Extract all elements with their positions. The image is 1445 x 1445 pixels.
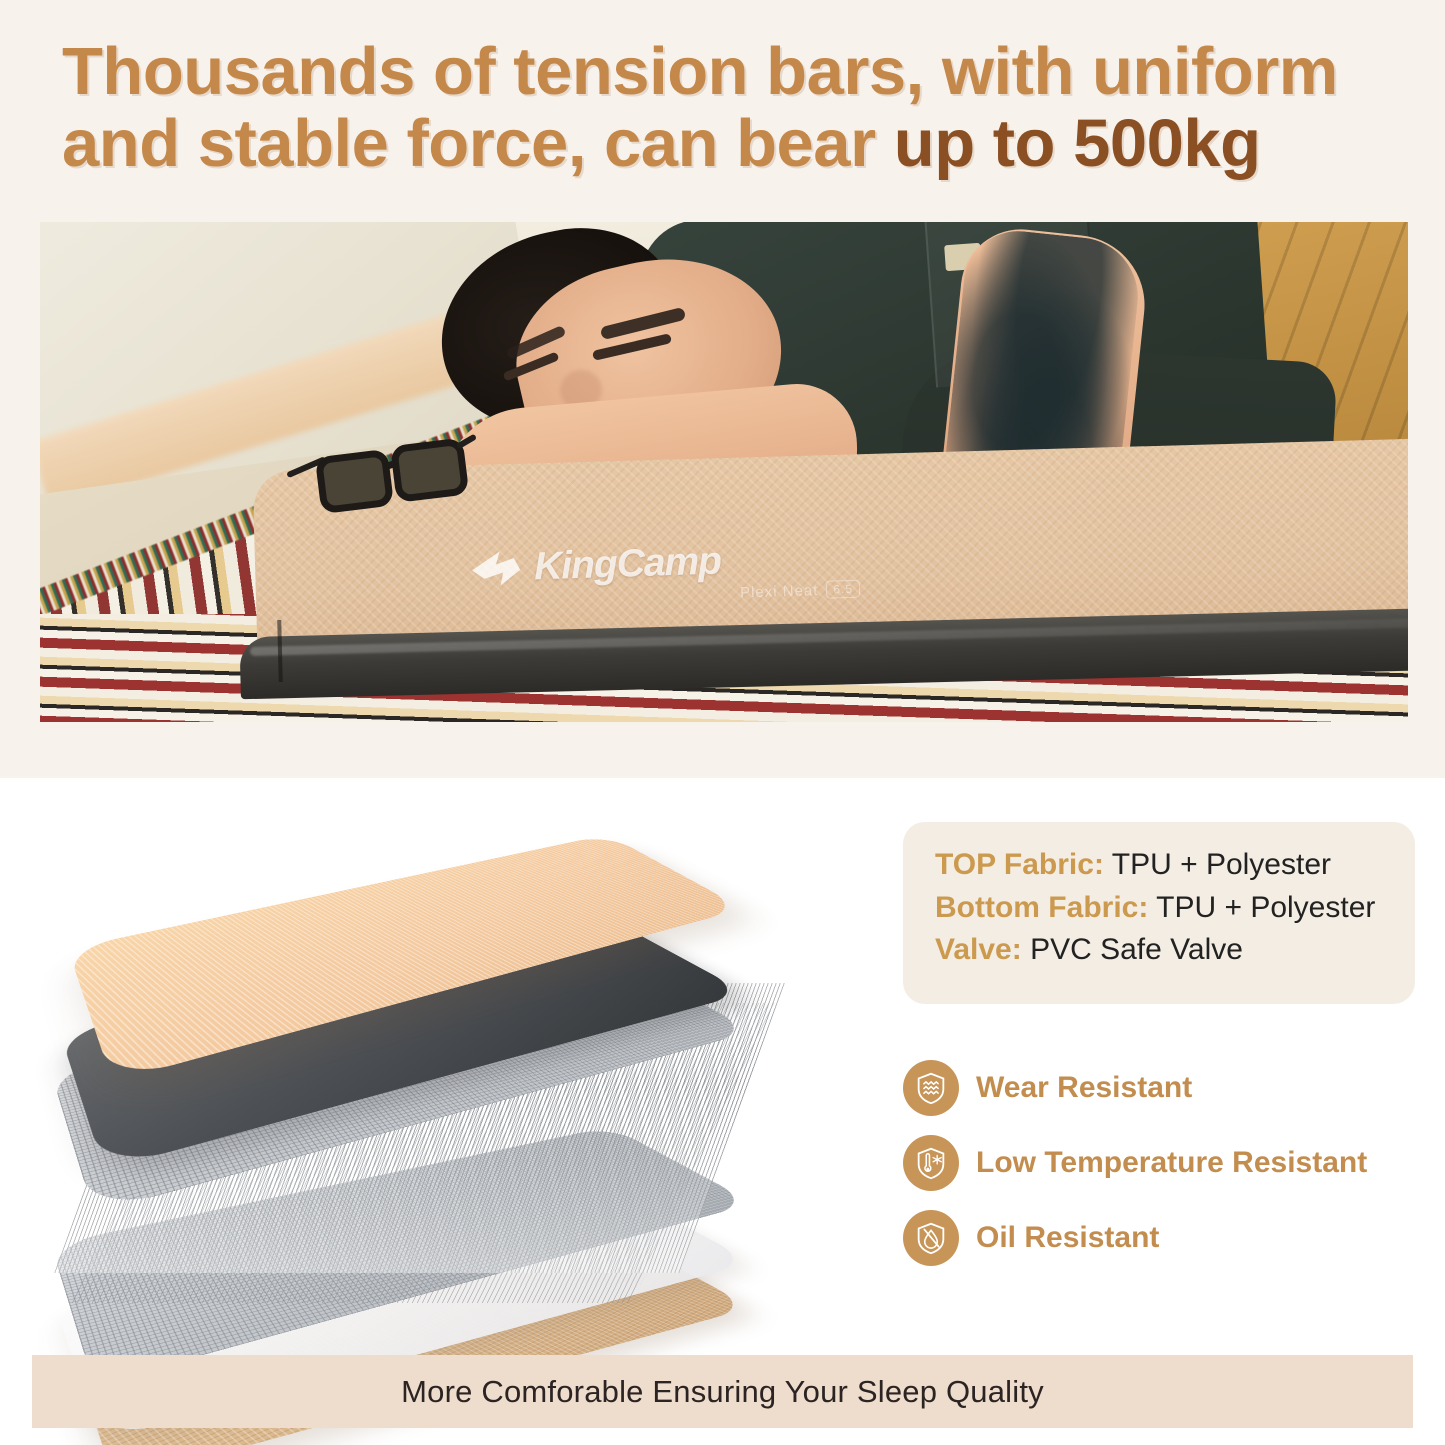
feature-item-wear-resistant: Wear Resistant [903, 1050, 1423, 1125]
feature-label-wear-resistant: Wear Resistant [976, 1071, 1192, 1105]
hero-section: Thousands of tension bars, with uniform … [0, 0, 1445, 778]
kingcamp-chevron-icon [469, 548, 522, 590]
feature-item-oil-resistant: Oil Resistant [903, 1200, 1423, 1275]
specs-panel: TOP Fabric: TPU + Polyester Bottom Fabri… [903, 822, 1415, 1004]
spec-label-top-fabric: TOP Fabric: [935, 848, 1104, 881]
mat-sub-badge: 6.5 [826, 580, 860, 599]
headline: Thousands of tension bars, with uniform … [62, 36, 1392, 179]
spec-value-bottom-fabric: TPU + Polyester [1156, 891, 1375, 924]
mat-sub-label-text: Plexi Neat [740, 581, 819, 600]
feature-item-low-temperature-resistant: Low Temperature Resistant [903, 1125, 1423, 1200]
shield-oil-drop-slash-icon [903, 1210, 959, 1266]
shield-thermometer-snowflake-icon [903, 1135, 959, 1191]
bottom-banner-text: More Comforable Ensuring Your Sleep Qual… [401, 1374, 1044, 1410]
mat-brand-name: KingCamp [533, 540, 721, 590]
shield-waves-icon [903, 1060, 959, 1116]
feature-list: Wear Resistant Low Temperat [903, 1050, 1423, 1275]
spec-row: Valve: PVC Safe Valve [935, 929, 1415, 972]
bottom-banner: More Comforable Ensuring Your Sleep Qual… [32, 1355, 1413, 1428]
headline-line-1: Thousands of tension bars, with uniform [62, 34, 1338, 109]
exploded-layer-diagram [45, 803, 845, 1343]
spec-row: TOP Fabric: TPU + Polyester [935, 844, 1415, 887]
feature-label-oil-resistant: Oil Resistant [976, 1221, 1159, 1255]
feature-label-low-temperature-resistant: Low Temperature Resistant [976, 1146, 1367, 1180]
spec-label-valve: Valve: [935, 933, 1022, 966]
spec-value-valve: PVC Safe Valve [1030, 933, 1243, 966]
details-section: TOP Fabric: TPU + Polyester Bottom Fabri… [0, 778, 1445, 1445]
spec-label-bottom-fabric: Bottom Fabric: [935, 891, 1148, 924]
spec-value-top-fabric: TPU + Polyester [1112, 848, 1331, 881]
hero-photo: KingCamp Plexi Neat 6.5 [40, 222, 1408, 722]
spec-row: Bottom Fabric: TPU + Polyester [935, 887, 1415, 930]
headline-line-2-normal: and stable force, can bear [62, 106, 894, 181]
product-marketing-page: Thousands of tension bars, with uniform … [0, 0, 1445, 1445]
headline-emphasis: up to 500kg [894, 106, 1261, 181]
